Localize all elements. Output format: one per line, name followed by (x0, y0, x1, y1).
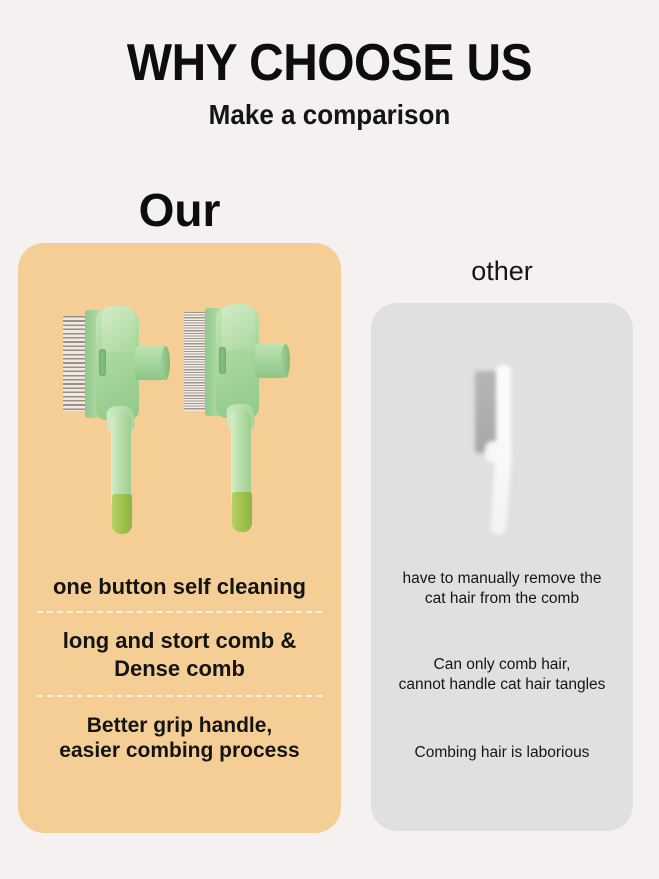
other-feature-line: have to manually remove the (375, 569, 629, 589)
brush-handle-tip (232, 492, 252, 532)
our-feature-item: one button self cleaning (18, 563, 341, 611)
our-feature-item: Better grip handle, easier combing proce… (18, 697, 341, 763)
brush-handle-tip (112, 494, 132, 534)
page-header: WHY CHOOSE US Make a comparison (0, 0, 659, 132)
our-column-heading: Our (18, 184, 341, 236)
brush-icon-long-short-comb (55, 302, 175, 537)
other-feature-line: Can only comb hair, (375, 655, 629, 675)
brush-slot-icon (219, 347, 226, 374)
other-feature-item: Combing hair is laborious (371, 695, 633, 763)
other-feature-line: cat hair from the comb (375, 589, 629, 609)
page-subtitle: Make a comparison (23, 92, 636, 132)
other-comparison-panel: have to manually remove the cat hair fro… (371, 303, 633, 831)
our-feature-line: long and stort comb & (28, 627, 331, 655)
our-feature-item: long and stort comb & Dense comb (18, 613, 341, 695)
our-product-images (18, 298, 341, 543)
brush-icon-dense-comb (175, 300, 295, 535)
our-feature-line: one button self cleaning (28, 573, 331, 601)
other-product-image (371, 323, 633, 553)
page-title: WHY CHOOSE US (26, 0, 632, 92)
other-feature-list: have to manually remove the cat hair fro… (371, 561, 633, 763)
our-feature-line: Better grip handle, (28, 713, 331, 738)
our-feature-line: Dense comb (28, 655, 331, 683)
other-feature-line: cannot handle cat hair tangles (375, 675, 629, 695)
our-feature-list: one button self cleaning long and stort … (18, 563, 341, 763)
our-comparison-panel: one button self cleaning long and stort … (18, 243, 341, 833)
self-cleaning-button-cap (281, 344, 290, 378)
other-feature-item: have to manually remove the cat hair fro… (371, 561, 633, 609)
plain-comb-icon (463, 353, 543, 543)
brush-head-wing (102, 306, 135, 352)
brush-head-wing (222, 304, 255, 350)
our-feature-line: easier combing process (28, 738, 331, 763)
brush-slot-icon (99, 349, 106, 376)
self-cleaning-button-cap (161, 346, 170, 380)
other-feature-line: Combing hair is laborious (375, 743, 629, 763)
other-feature-item: Can only comb hair, cannot handle cat ha… (371, 609, 633, 695)
other-column-heading: other (371, 255, 633, 287)
